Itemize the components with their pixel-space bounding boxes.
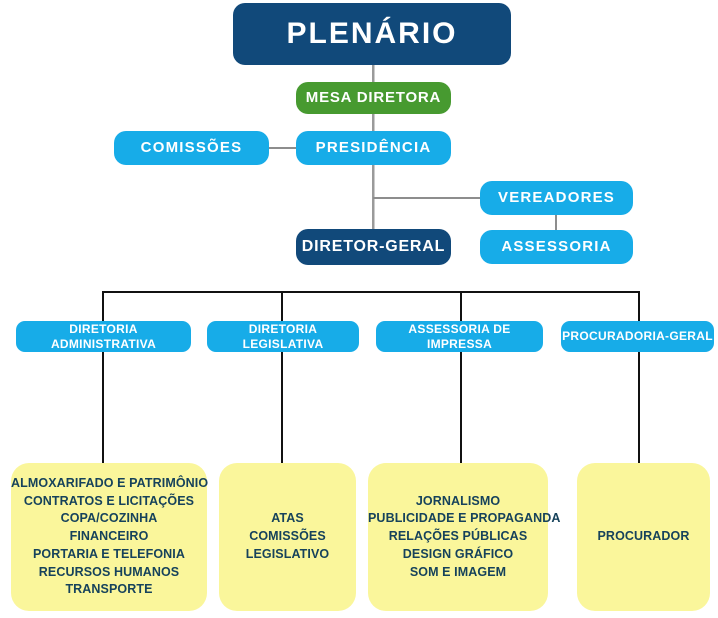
unit-line: PROCURADOR (577, 528, 710, 546)
node-diretor-geral[interactable]: DIRETOR-GERAL (296, 229, 451, 265)
node-mesa-diretora[interactable]: MESA DIRETORA (296, 82, 451, 114)
node-assessoria[interactable]: ASSESSORIA (480, 230, 633, 264)
unit-list-administrativa: ALMOXARIFADO E PATRIMÔNIOCONTRATOS E LIC… (11, 475, 207, 599)
unit-line: LEGISLATIVO (219, 546, 356, 564)
unit-line: COMISSÕES (219, 528, 356, 546)
node-plenario[interactable]: PLENÁRIO (233, 3, 511, 65)
unit-line: PORTARIA E TELEFONIA (11, 546, 207, 564)
node-diretoria-administrativa[interactable]: DIRETORIA ADMINISTRATIVA (16, 321, 191, 352)
unit-line: JORNALISMO (368, 493, 548, 511)
unit-line: PUBLICIDADE E PROPAGANDA (368, 510, 548, 528)
node-presidencia[interactable]: PRESIDÊNCIA (296, 131, 451, 165)
unit-line: SOM E IMAGEM (368, 564, 548, 582)
organization-chart: PLENÁRIO MESA DIRETORA COMISSÕES PRESIDÊ… (0, 0, 718, 618)
unit-line: COPA/COZINHA (11, 510, 207, 528)
unit-line: FINANCEIRO (11, 528, 207, 546)
node-procuradoria-geral[interactable]: PROCURADORIA-GERAL (561, 321, 714, 352)
node-vereadores[interactable]: VEREADORES (480, 181, 633, 215)
unit-list-procuradoria: PROCURADOR (577, 528, 710, 546)
node-assessoria-de-impressa[interactable]: ASSESSORIA DE IMPRESSA (376, 321, 543, 352)
unit-line: RECURSOS HUMANOS (11, 564, 207, 582)
unit-line: DESIGN GRÁFICO (368, 546, 548, 564)
node-units-procuradoria[interactable]: PROCURADOR (577, 463, 710, 611)
node-comissoes[interactable]: COMISSÕES (114, 131, 269, 165)
unit-line: ALMOXARIFADO E PATRIMÔNIO (11, 475, 207, 493)
unit-list-impressa: JORNALISMOPUBLICIDADE E PROPAGANDARELAÇÕ… (368, 493, 548, 582)
unit-line: CONTRATOS E LICITAÇÕES (11, 493, 207, 511)
node-diretoria-legislativa[interactable]: DIRETORIA LEGISLATIVA (207, 321, 359, 352)
node-units-impressa[interactable]: JORNALISMOPUBLICIDADE E PROPAGANDARELAÇÕ… (368, 463, 548, 611)
unit-line: RELAÇÕES PÚBLICAS (368, 528, 548, 546)
unit-line: ATAS (219, 510, 356, 528)
node-units-administrativa[interactable]: ALMOXARIFADO E PATRIMÔNIOCONTRATOS E LIC… (11, 463, 207, 611)
unit-line: TRANSPORTE (11, 581, 207, 599)
unit-list-legislativa: ATASCOMISSÕESLEGISLATIVO (219, 510, 356, 563)
node-units-legislativa[interactable]: ATASCOMISSÕESLEGISLATIVO (219, 463, 356, 611)
